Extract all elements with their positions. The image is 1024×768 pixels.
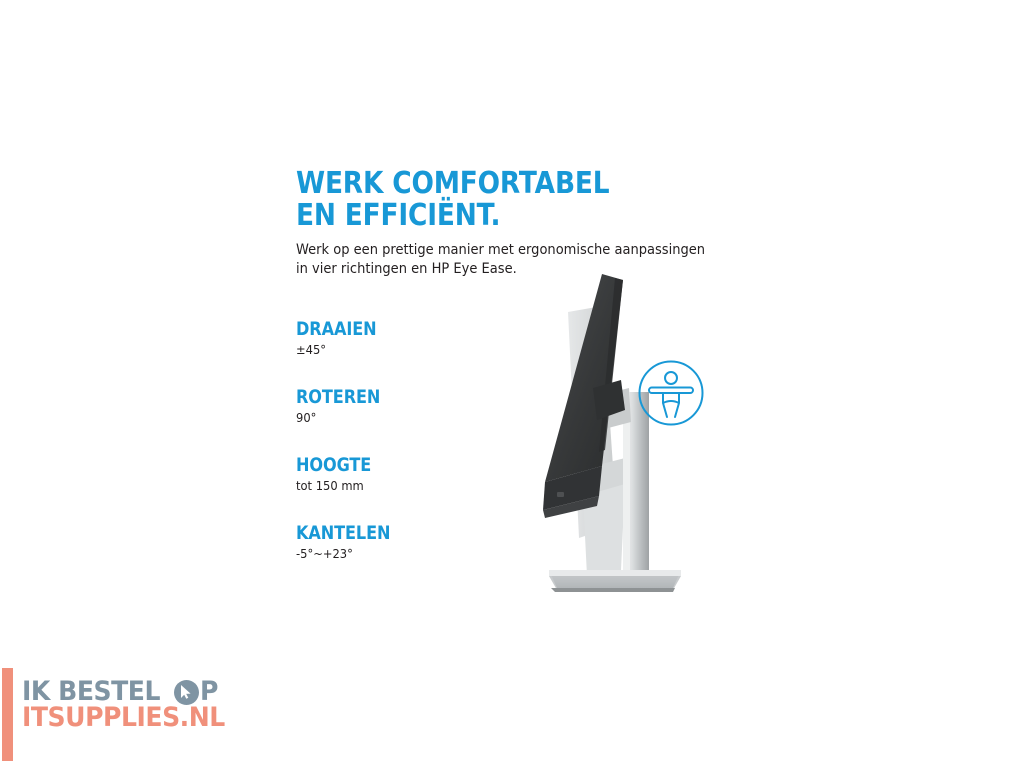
spec-value: tot 150 mm bbox=[296, 476, 508, 494]
spec-label: KANTELEN bbox=[296, 524, 496, 544]
spec-value: 90° bbox=[296, 408, 508, 426]
cursor-arrow-icon bbox=[174, 680, 199, 705]
left-accent-bar bbox=[2, 668, 13, 761]
intro-line-2: in vier richtingen en HP Eye Ease. bbox=[296, 261, 517, 277]
accessibility-icon bbox=[637, 359, 705, 427]
spec-item-draaien: DRAAIEN ±45° bbox=[296, 320, 526, 388]
intro-text-block: WERK COMFORTABEL EN EFFICIËNT. Werk op e… bbox=[296, 168, 736, 278]
spec-label: DRAAIEN bbox=[296, 320, 496, 340]
spec-item-roteren: ROTEREN 90° bbox=[296, 388, 526, 456]
page-title: WERK COMFORTABEL EN EFFICIËNT. bbox=[296, 168, 683, 232]
monitor-illustration bbox=[505, 270, 735, 615]
accessibility-badge bbox=[637, 359, 705, 427]
spec-value: ±45° bbox=[296, 340, 508, 358]
spec-label: ROTEREN bbox=[296, 388, 496, 408]
spec-label: HOOGTE bbox=[296, 456, 496, 476]
page-title-line-1: WERK COMFORTABEL bbox=[296, 166, 609, 201]
stand-base bbox=[549, 570, 681, 592]
brand-logo[interactable]: IK BESTEL P ITSUPPLIES.NL bbox=[22, 679, 242, 731]
page-title-line-2: EN EFFICIËNT. bbox=[296, 200, 683, 232]
logo-text-domain: ITSUPPLIES.NL bbox=[22, 705, 227, 731]
adjustment-spec-list: DRAAIEN ±45° ROTEREN 90° HOOGTE tot 150 … bbox=[296, 320, 526, 592]
panel-port-detail bbox=[557, 492, 564, 497]
spec-item-kantelen: KANTELEN -5°~+23° bbox=[296, 524, 526, 592]
spec-item-hoogte: HOOGTE tot 150 mm bbox=[296, 456, 526, 524]
spec-value: -5°~+23° bbox=[296, 544, 508, 562]
intro-line-1: Werk op een prettige manier met ergonomi… bbox=[296, 242, 705, 258]
